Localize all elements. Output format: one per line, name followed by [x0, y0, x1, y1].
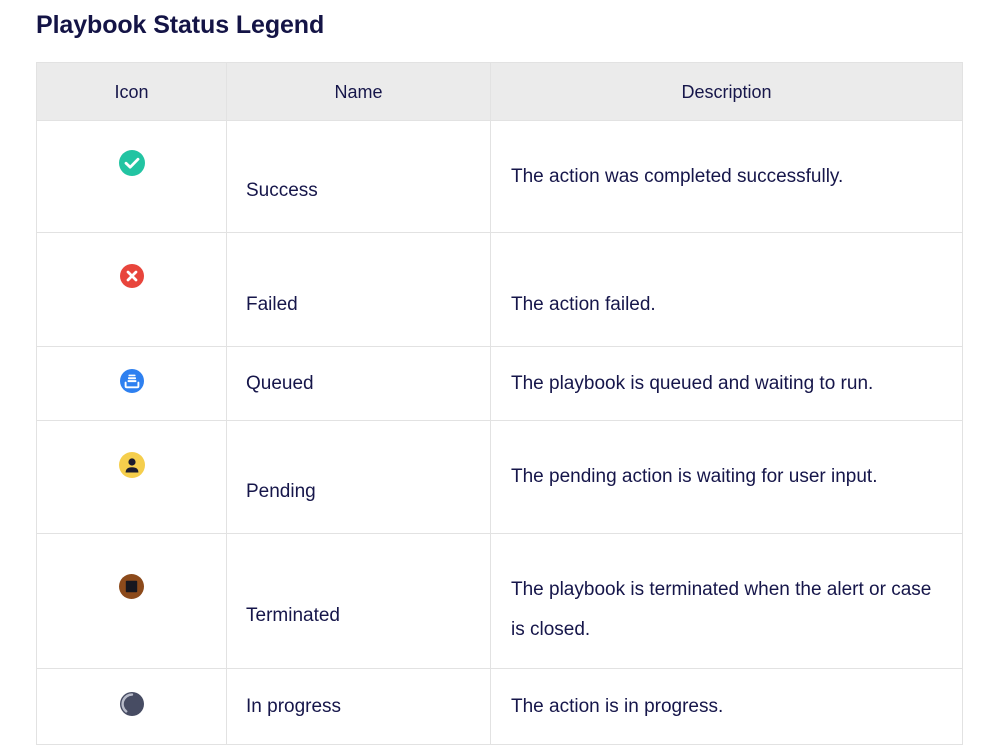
page-title: Playbook Status Legend [0, 0, 1004, 40]
status-description: The playbook is terminated when the aler… [491, 534, 963, 669]
status-icon-cell [37, 421, 227, 534]
playbook-status-legend-table: Icon Name Description [36, 62, 963, 745]
column-header-name: Name [227, 63, 491, 121]
terminated-stop-square-circle-icon [118, 573, 145, 600]
table-row: Terminated The playbook is terminated wh… [37, 534, 963, 669]
in-progress-spinner-icon [119, 691, 145, 717]
status-icon-cell [37, 233, 227, 347]
table-header-row: Icon Name Description [37, 63, 963, 121]
status-name: In progress [227, 669, 491, 745]
status-icon-cell [37, 534, 227, 669]
table-row: Pending The pending action is waiting fo… [37, 421, 963, 534]
column-header-description: Description [491, 63, 963, 121]
status-name: Pending [227, 421, 491, 534]
status-description: The action failed. [491, 233, 963, 347]
status-name: Queued [227, 347, 491, 421]
status-name: Failed [227, 233, 491, 347]
table-row: In progress The action is in progress. [37, 669, 963, 745]
status-name: Terminated [227, 534, 491, 669]
pending-user-circle-icon [118, 451, 146, 479]
failed-x-circle-icon [119, 263, 145, 289]
table-row: Success The action was completed success… [37, 121, 963, 233]
status-name: Success [227, 121, 491, 233]
queued-stack-circle-icon [119, 368, 145, 394]
status-description: The pending action is waiting for user i… [491, 421, 963, 534]
playbook-status-legend-page: Playbook Status Legend Icon Name Descrip… [0, 0, 1004, 656]
table-row: Failed The action failed. [37, 233, 963, 347]
table-header: Icon Name Description [37, 63, 963, 121]
legend-table-container: Icon Name Description [36, 62, 962, 745]
status-description: The playbook is queued and waiting to ru… [491, 347, 963, 421]
status-description: The action is in progress. [491, 669, 963, 745]
status-icon-cell [37, 669, 227, 745]
table-row: Queued The playbook is queued and waitin… [37, 347, 963, 421]
table-body: Success The action was completed success… [37, 121, 963, 745]
status-icon-cell [37, 347, 227, 421]
column-header-icon: Icon [37, 63, 227, 121]
success-check-circle-icon [118, 149, 146, 177]
status-description: The action was completed successfully. [491, 121, 963, 233]
status-icon-cell [37, 121, 227, 233]
